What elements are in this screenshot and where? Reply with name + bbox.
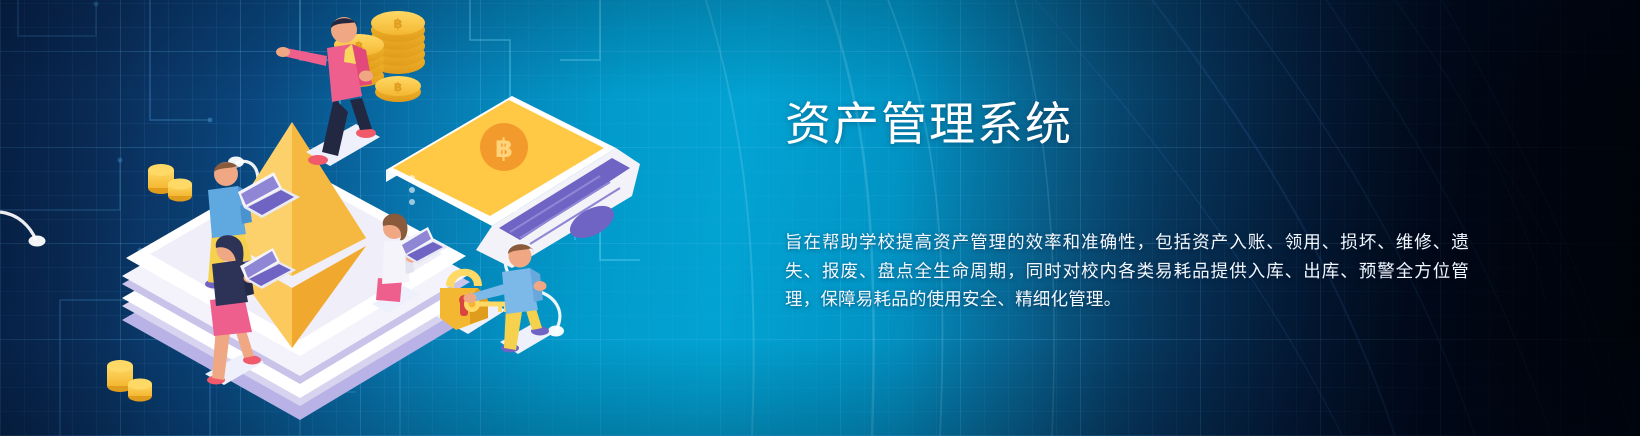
svg-text:฿: ฿ bbox=[393, 17, 402, 32]
svg-text:฿: ฿ bbox=[495, 134, 513, 164]
banner-text-column: 资产管理系统 旨在帮助学校提高资产管理的效率和准确性，包括资产入账、领用、损坏、… bbox=[785, 0, 1485, 436]
asset-management-banner: ฿ ฿ ฿ bbox=[0, 0, 1640, 436]
isometric-crypto-illustration: ฿ ฿ ฿ bbox=[0, 0, 640, 436]
page-title: 资产管理系统 bbox=[785, 97, 1073, 151]
coin-stack-small bbox=[148, 164, 192, 202]
svg-text:฿: ฿ bbox=[394, 80, 402, 94]
page-description: 旨在帮助学校提高资产管理的效率和准确性，包括资产入账、领用、损坏、维修、遗失、报… bbox=[785, 228, 1469, 314]
coin-stack-bottom bbox=[107, 360, 152, 402]
